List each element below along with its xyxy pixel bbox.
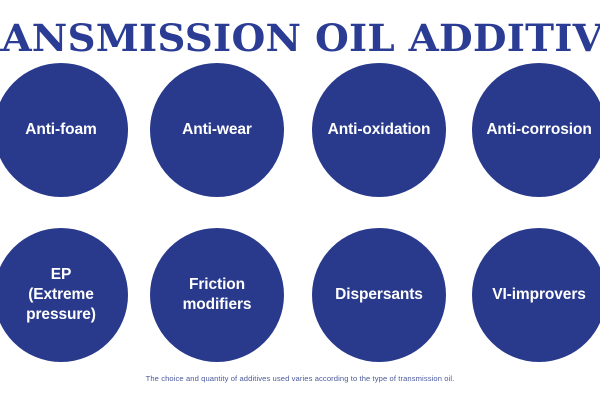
- bubble-label: VI-improvers: [490, 285, 588, 305]
- bubble-label: EP (Extreme pressure): [24, 265, 98, 324]
- bubble-label: Friction modifiers: [181, 275, 254, 315]
- bubble-anti-oxidation[interactable]: Anti-oxidation: [312, 63, 446, 197]
- bubble-label: Anti-foam: [23, 120, 98, 140]
- bubble-ep-extreme-pressure[interactable]: EP (Extreme pressure): [0, 228, 128, 362]
- bubble-label: Dispersants: [333, 285, 425, 305]
- bubble-friction-modifiers[interactable]: Friction modifiers: [150, 228, 284, 362]
- bubble-anti-wear[interactable]: Anti-wear: [150, 63, 284, 197]
- bubble-dispersants[interactable]: Dispersants: [312, 228, 446, 362]
- bubble-grid: Anti-foam Anti-wear Anti-oxidation Anti-…: [0, 0, 600, 400]
- footer-caption: The choice and quantity of additives use…: [0, 374, 600, 385]
- infographic-root: TRANSMISSION OIL ADDITIVES Anti-foam Ant…: [0, 0, 600, 400]
- bubble-vi-improvers[interactable]: VI-improvers: [472, 228, 600, 362]
- bubble-label: Anti-oxidation: [326, 120, 433, 140]
- bubble-anti-foam[interactable]: Anti-foam: [0, 63, 128, 197]
- bubble-anti-corrosion[interactable]: Anti-corrosion: [472, 63, 600, 197]
- bubble-label: Anti-wear: [180, 120, 254, 140]
- bubble-label: Anti-corrosion: [484, 120, 593, 140]
